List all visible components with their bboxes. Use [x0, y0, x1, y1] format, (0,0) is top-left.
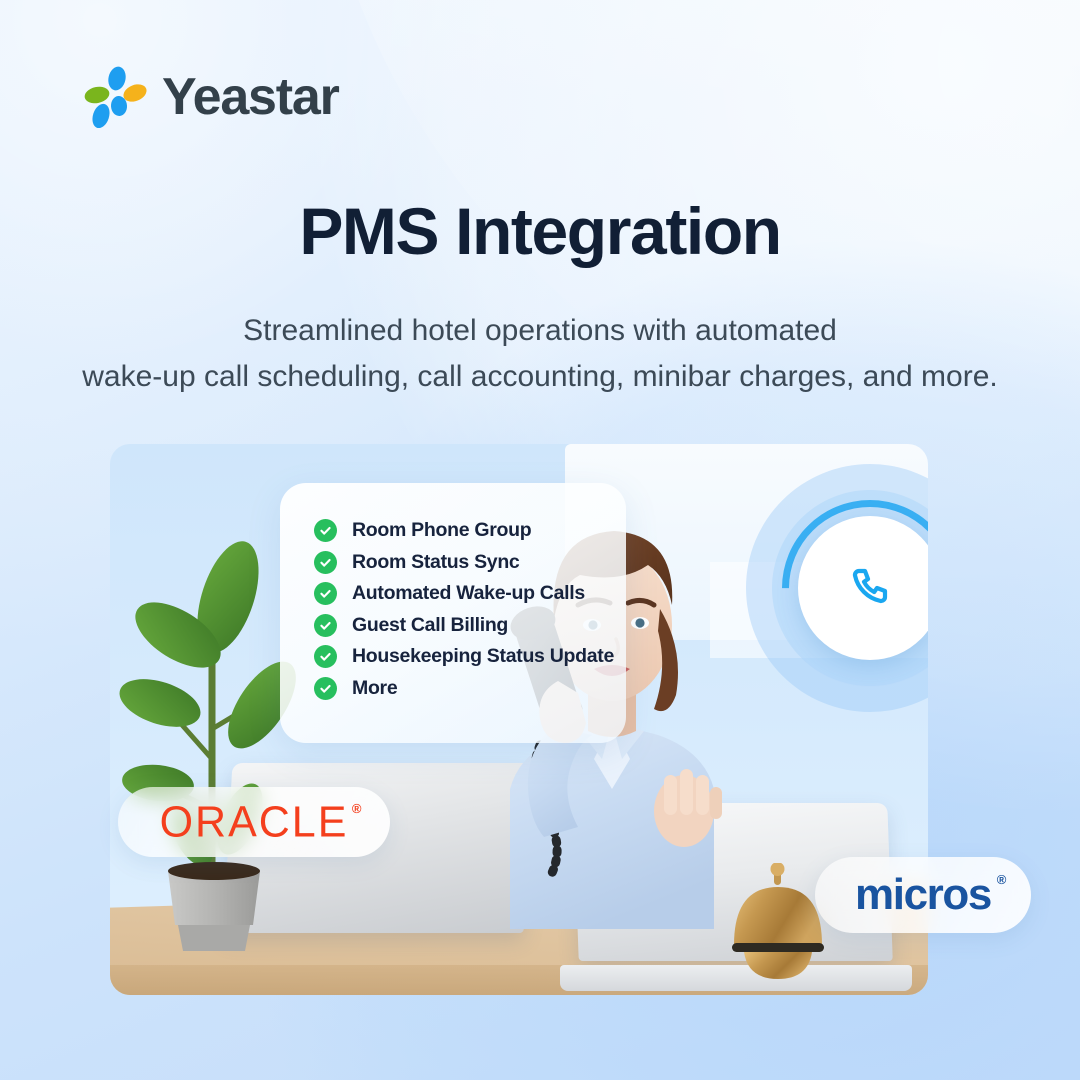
feature-label: More: [352, 677, 397, 700]
micros-trademark: ®: [997, 872, 1005, 887]
feature-label: Housekeeping Status Update: [352, 645, 614, 668]
micros-wordmark: micros®: [855, 870, 991, 920]
poster-canvas: Yeastar PMS Integration Streamlined hote…: [0, 0, 1080, 1080]
check-circle-icon: [314, 519, 337, 542]
oracle-trademark: ®: [352, 800, 364, 815]
micros-label: micros: [855, 870, 991, 919]
logo-wordmark: Yeastar: [162, 71, 339, 123]
feature-label: Room Phone Group: [352, 519, 531, 542]
potted-plant: [116, 539, 306, 959]
list-item[interactable]: More: [314, 673, 626, 705]
check-circle-icon: [314, 551, 337, 574]
page-subtitle: Streamlined hotel operations with automa…: [0, 308, 1080, 399]
oracle-wordmark: ORACLE®: [160, 797, 349, 847]
feature-label: Guest Call Billing: [352, 614, 508, 637]
yeastar-petal-mark: [82, 66, 148, 128]
micros-badge[interactable]: micros®: [815, 857, 1031, 933]
oracle-label: ORACLE: [160, 797, 349, 846]
feature-list-card: Room Phone Group Room Status Sync Automa…: [280, 483, 626, 743]
check-circle-icon: [314, 614, 337, 637]
yeastar-logo[interactable]: Yeastar: [82, 66, 339, 128]
check-circle-icon: [314, 582, 337, 605]
subtitle-line-2: wake-up call scheduling, call accounting…: [0, 354, 1080, 400]
feature-label: Automated Wake-up Calls: [352, 582, 585, 605]
fiddle-leaf-fig-illustration: [116, 539, 306, 959]
list-item[interactable]: Housekeeping Status Update: [314, 641, 626, 673]
oracle-badge[interactable]: ORACLE®: [118, 787, 390, 857]
list-item[interactable]: Automated Wake-up Calls: [314, 578, 626, 610]
page-title: PMS Integration: [0, 196, 1080, 267]
phone-handset-icon: [846, 564, 894, 612]
feature-label: Room Status Sync: [352, 551, 519, 574]
check-circle-icon: [314, 677, 337, 700]
check-circle-icon: [314, 645, 337, 668]
phone-ring-decoration: [746, 464, 928, 724]
list-item[interactable]: Guest Call Billing: [314, 610, 626, 642]
list-item[interactable]: Room Phone Group: [314, 515, 626, 547]
list-item[interactable]: Room Status Sync: [314, 547, 626, 579]
subtitle-line-1: Streamlined hotel operations with automa…: [0, 308, 1080, 354]
